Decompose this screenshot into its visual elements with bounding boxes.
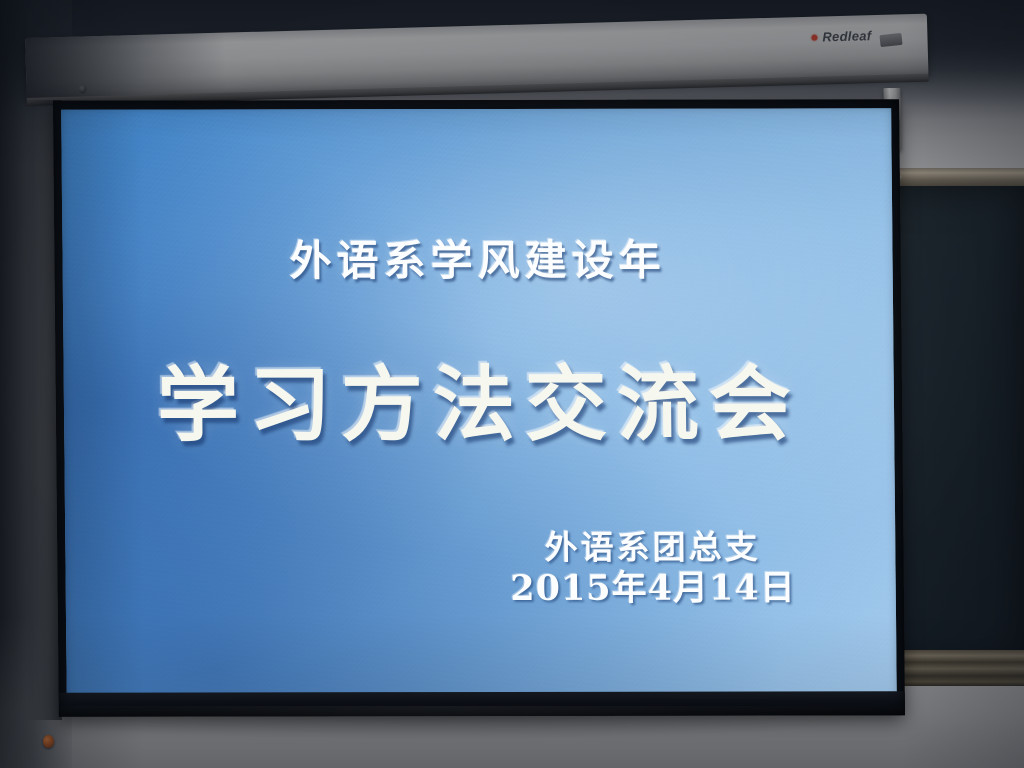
housing-shadow (25, 33, 227, 100)
housing-end-clip (879, 33, 902, 47)
slide-title: 学习方法交流会 (63, 337, 894, 457)
projected-slide[interactable]: 外语系学风建设年 学习方法交流会 外语系团总支 2015年4月14日 (61, 108, 897, 694)
wall-screw-icon (43, 735, 54, 748)
slide-footer-date: 2015年4月14日 (510, 567, 796, 609)
slide-footer: 外语系团总支 2015年4月14日 (510, 528, 796, 609)
classroom-photo-scene: Redleaf 外语系学风建设年 学习方法交流会 外语系团总支 2015年4月1… (0, 0, 1024, 768)
slide-footer-organization: 外语系团总支 (510, 528, 796, 567)
screen-brand-logo: Redleaf (811, 28, 871, 45)
screen-weight-bar (59, 691, 905, 716)
brand-dot-icon (811, 34, 817, 40)
screen-fabric: 外语系学风建设年 学习方法交流会 外语系团总支 2015年4月14日 (61, 108, 897, 694)
projection-screen[interactable]: 外语系学风建设年 学习方法交流会 外语系团总支 2015年4月14日 (53, 99, 905, 716)
chalk-tray (888, 650, 1024, 686)
slide-content: 外语系学风建设年 学习方法交流会 外语系团总支 2015年4月14日 (61, 108, 897, 694)
slide-subtitle: 外语系学风建设年 (62, 226, 893, 288)
brand-name: Redleaf (822, 28, 871, 44)
